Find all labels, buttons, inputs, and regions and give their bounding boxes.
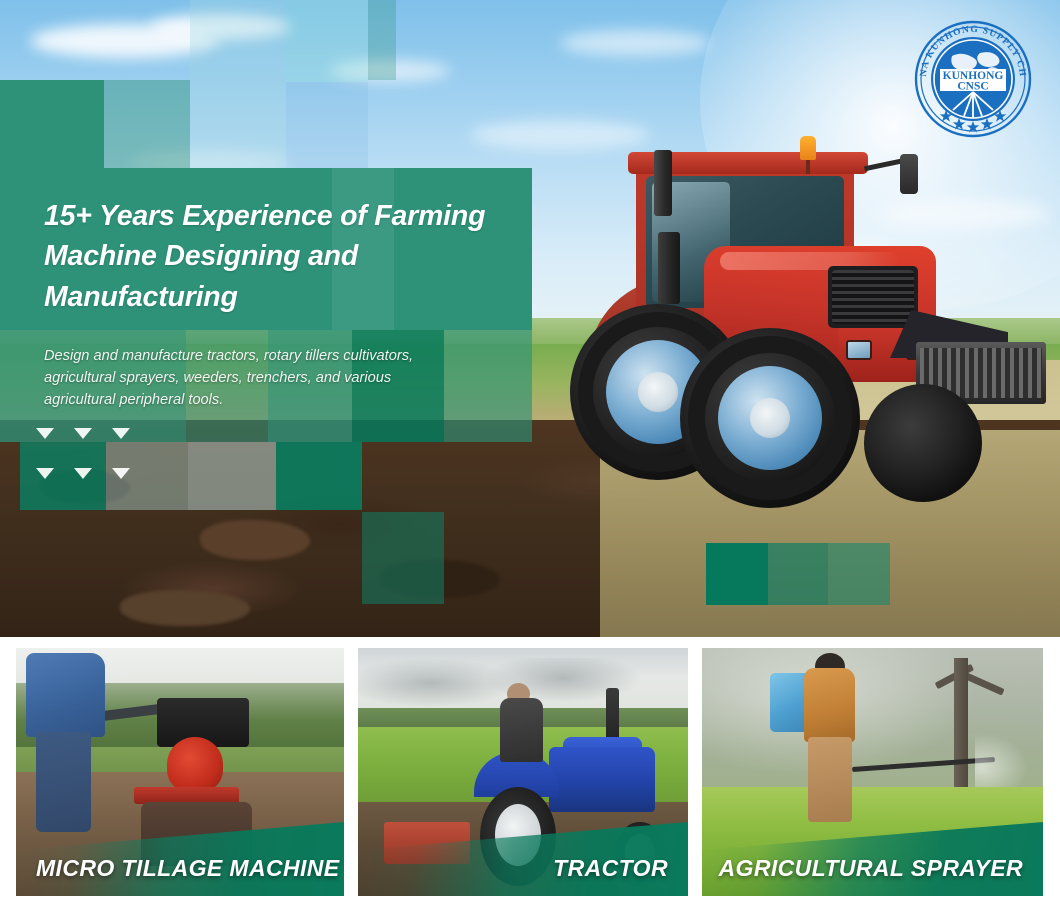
- mosaic-tile: [104, 80, 190, 170]
- card-label: AGRICULTURAL SPRAYER: [702, 855, 1043, 882]
- product-card-agricultural-sprayer[interactable]: AGRICULTURAL SPRAYER: [702, 648, 1043, 896]
- company-logo[interactable]: KUNHONG CNSC CHINA KUNHONG SUPPLY CHAIN: [906, 12, 1040, 146]
- tractor-beacon-light: [800, 136, 816, 160]
- mosaic-tile: [362, 512, 444, 604]
- mosaic-tile: [0, 80, 104, 170]
- cloud-icon: [560, 30, 710, 56]
- triangle-icon: [112, 468, 130, 479]
- tractor-far-front-wheel: [864, 384, 982, 502]
- mosaic-tile: [276, 442, 362, 510]
- triangle-icon: [112, 428, 130, 439]
- page-title: 15+ Years Experience of Farming Machine …: [44, 196, 524, 317]
- triangle-icon: [74, 468, 92, 479]
- logo-name-line2: CNSC: [957, 81, 988, 93]
- triangle-icon: [74, 428, 92, 439]
- triangle-icon: [36, 468, 54, 479]
- mosaic-tile: [190, 0, 286, 170]
- tractor-grille-vents: [832, 270, 914, 324]
- tractor-rear-hub: [638, 372, 678, 412]
- soil-clod: [200, 520, 310, 560]
- mosaic-tile: [286, 0, 368, 82]
- soil-clod: [120, 590, 250, 626]
- triangle-decor-grid: [36, 428, 136, 490]
- tractor-exhaust-lower: [658, 232, 680, 304]
- triangle-icon: [36, 428, 54, 439]
- page-subtitle: Design and manufacture tractors, rotary …: [44, 345, 464, 412]
- mosaic-tile: [706, 543, 768, 605]
- product-card-row: MICRO TILLAGE MACHINE TRACTOR: [0, 648, 1060, 903]
- mosaic-tile: [286, 82, 368, 170]
- tractor-beacon-stem: [806, 158, 810, 174]
- tractor-illustration: [528, 128, 1048, 508]
- mosaic-tile: [368, 0, 396, 80]
- mosaic-tile: [768, 543, 828, 605]
- card-label: MICRO TILLAGE MACHINE: [16, 855, 344, 882]
- mosaic-tile: [828, 543, 890, 605]
- mosaic-tile: [188, 442, 276, 510]
- card-label: TRACTOR: [358, 855, 688, 882]
- tractor-front-hub: [750, 398, 790, 438]
- hero-banner: 15+ Years Experience of Farming Machine …: [0, 0, 1060, 637]
- product-card-micro-tillage-machine[interactable]: MICRO TILLAGE MACHINE: [16, 648, 344, 896]
- tractor-mirror: [900, 154, 918, 194]
- product-card-tractor[interactable]: TRACTOR: [358, 648, 688, 896]
- tractor-headlight-left: [846, 340, 872, 360]
- tractor-exhaust-upper: [654, 150, 672, 216]
